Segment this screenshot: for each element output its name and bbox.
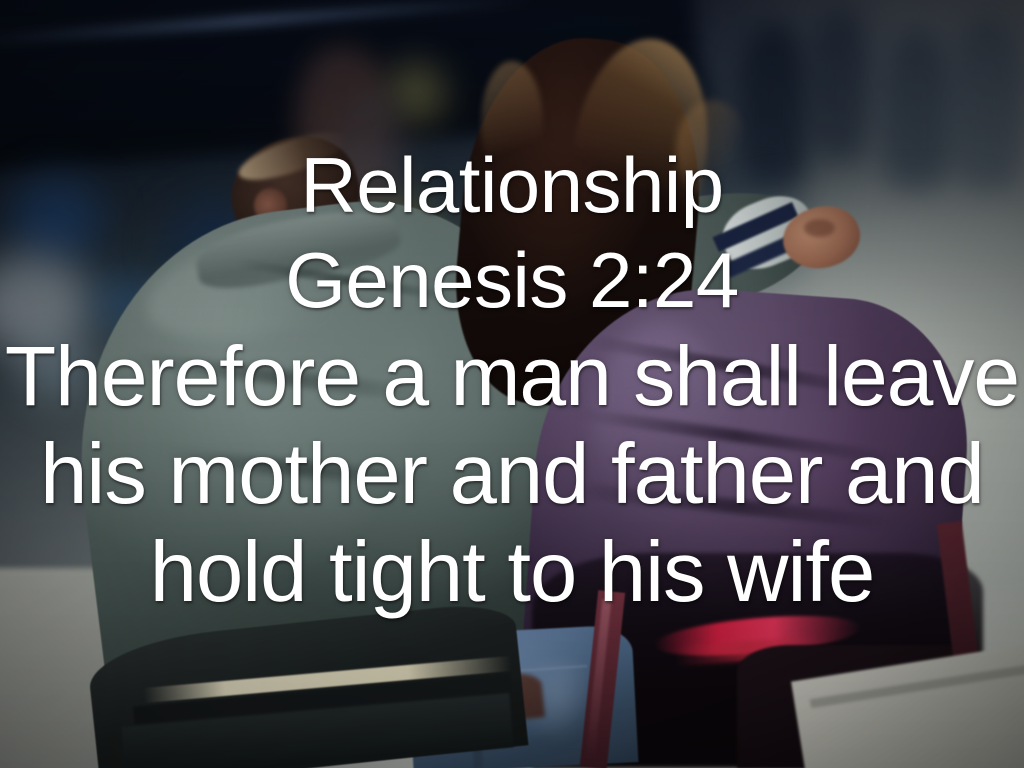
slide-caption: Relationship Genesis 2:24 Therefore a ma…: [0, 148, 1024, 615]
verse-line-2: his mother and father and: [0, 434, 1024, 516]
verse-line-1: Therefore a man shall leave: [0, 336, 1024, 417]
title-line-scripture-reference: Genesis 2:24: [0, 243, 1024, 319]
verse-line-3: hold tight to his wife: [0, 532, 1024, 614]
title-line-relationship: Relationship: [0, 148, 1024, 224]
presentation-slide: Relationship Genesis 2:24 Therefore a ma…: [0, 0, 1024, 768]
